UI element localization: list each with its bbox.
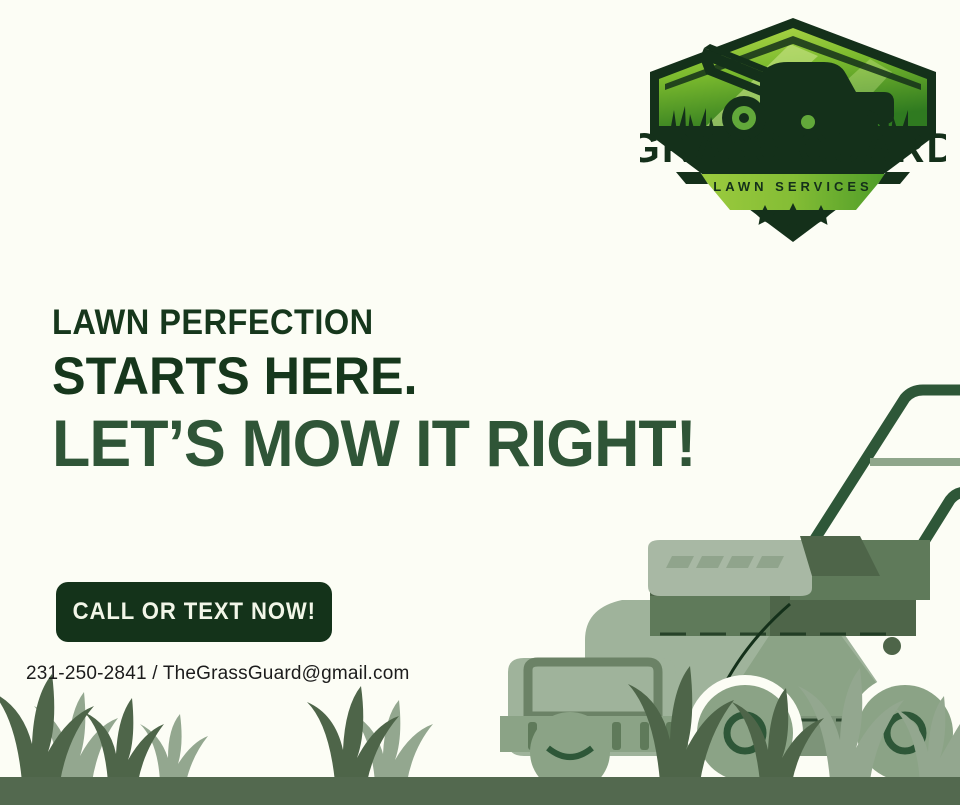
mower-grass-catcher bbox=[500, 658, 680, 756]
headline-line-2: STARTS HERE. bbox=[52, 348, 696, 405]
headline-line-3: LET’S MOW IT RIGHT! bbox=[52, 409, 696, 478]
catcher-slats bbox=[528, 722, 675, 750]
mower-wheel-rear bbox=[687, 675, 803, 791]
mower-handle bbox=[760, 390, 960, 625]
logo-brand-text: GRASS GUARD bbox=[640, 124, 946, 171]
cta-button-label: CALL OR TEXT NOW! bbox=[72, 598, 315, 626]
logo-tagline-text: LAWN SERVICES bbox=[713, 179, 872, 194]
mower-body bbox=[585, 600, 930, 756]
mower-bolt bbox=[883, 637, 901, 655]
mower-engine bbox=[648, 536, 930, 636]
headline-line-1: LAWN PERFECTION bbox=[52, 305, 682, 340]
grass-tufts-light bbox=[34, 668, 960, 782]
brand-logo: GRASS GUARD LAWN SERVICES bbox=[640, 14, 946, 246]
ground-strip bbox=[0, 777, 960, 805]
mower-handle-brace bbox=[870, 458, 960, 466]
contact-line[interactable]: 231-250-2841 / TheGrassGuard@gmail.com bbox=[26, 663, 410, 685]
engine-vents bbox=[666, 556, 784, 568]
call-or-text-now-button[interactable]: CALL OR TEXT NOW! bbox=[56, 582, 332, 642]
mower-wheel-front bbox=[847, 675, 960, 791]
headline-block: LAWN PERFECTION STARTS HERE. LET’S MOW I… bbox=[52, 305, 730, 479]
mower-body-seam bbox=[700, 604, 790, 756]
mower-wheel-small-left bbox=[530, 712, 610, 792]
poster-canvas: GRASS GUARD LAWN SERVICES bbox=[0, 0, 960, 805]
